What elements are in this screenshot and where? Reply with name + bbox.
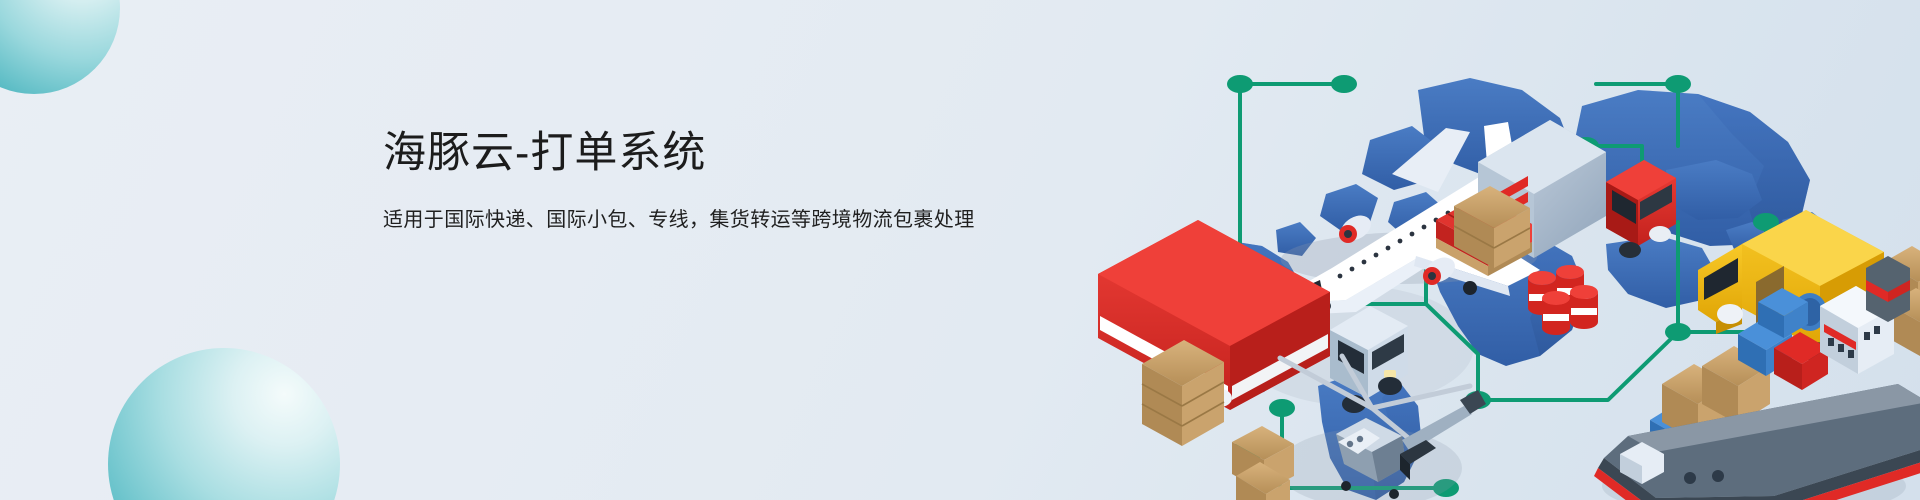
network-node [1269,399,1295,417]
page-subtitle: 适用于国际快递、国际小包、专线，集货转运等跨境物流包裹处理 [383,205,1123,235]
hero-copy: 海豚云-打单系统 适用于国际快递、国际小包、专线，集货转运等跨境物流包裹处理 [383,128,1123,235]
network-node [1331,75,1357,93]
hero-banner: 海豚云-打单系统 适用于国际快递、国际小包、专线，集货转运等跨境物流包裹处理 [0,0,1920,500]
page-title: 海豚云-打单系统 [383,128,1123,179]
global-logistics-illustration [1026,0,1920,500]
network-node [1665,323,1691,341]
cargo-boxes-icon [1232,426,1294,500]
top-left-circle [0,0,120,94]
network-node [1665,75,1691,93]
network-node [1227,75,1253,93]
bottom-left-circle [108,348,340,500]
